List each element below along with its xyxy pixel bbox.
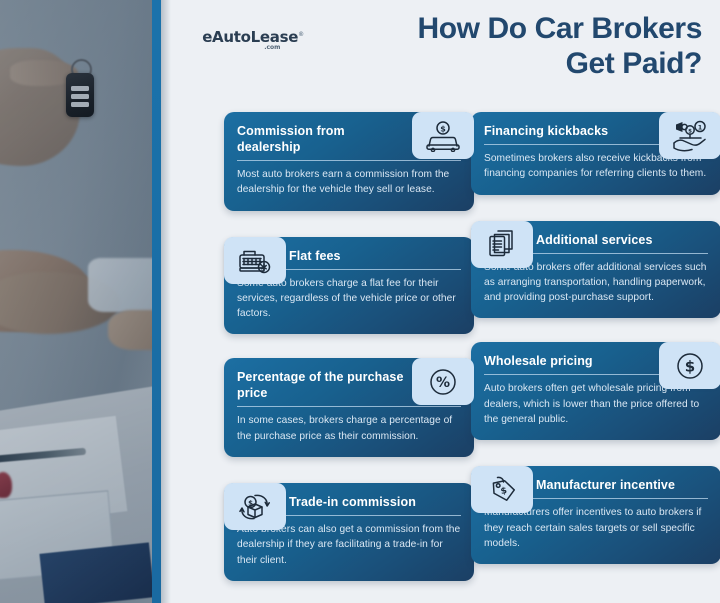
hero-photo bbox=[0, 0, 152, 603]
card-grid: $ Commission from dealership Most auto b… bbox=[171, 88, 720, 603]
card-description: In some cases, brokers charge a percenta… bbox=[237, 413, 461, 444]
hand-with-money-icon: 1 $ bbox=[659, 112, 720, 159]
brand-logo[interactable]: eAutoLease® .com bbox=[195, 22, 311, 52]
blue-accent-bar bbox=[152, 0, 161, 603]
card-column-left: $ Commission from dealership Most auto b… bbox=[224, 88, 474, 592]
car-with-dollar-icon: $ bbox=[412, 112, 474, 159]
accent-bar-shadow bbox=[161, 0, 171, 603]
svg-text:$: $ bbox=[685, 357, 695, 375]
card-additional-services[interactable]: Additional services Some auto brokers of… bbox=[471, 221, 720, 319]
card-description: Most auto brokers earn a commission from… bbox=[237, 167, 461, 198]
infographic-root: eAutoLease® .com How Do Car Brokers Get … bbox=[0, 0, 720, 603]
card-commission-from-dealership[interactable]: $ Commission from dealership Most auto b… bbox=[224, 112, 474, 211]
page-title-line-1: How Do Car Brokers bbox=[417, 12, 702, 45]
svg-text:%: % bbox=[436, 375, 450, 391]
card-trade-in-commission[interactable]: $ Trade-in commission Auto brokers can a… bbox=[224, 483, 474, 581]
card-column-right: 1 $ Financing kickbacks Sometimes bro bbox=[471, 88, 720, 575]
page-title: How Do Car Brokers Get Paid? bbox=[302, 12, 702, 82]
page-title-line-2: Get Paid? bbox=[302, 47, 702, 82]
percent-circle-icon: % bbox=[412, 358, 474, 405]
card-divider bbox=[237, 160, 461, 161]
svg-text:$: $ bbox=[440, 124, 446, 133]
card-percentage-of-the-purchase-price[interactable]: % Percentage of the purchase price In so… bbox=[224, 358, 474, 457]
svg-text:1: 1 bbox=[698, 123, 703, 131]
photo-overlay-tint bbox=[0, 0, 152, 603]
card-financing-kickbacks[interactable]: 1 $ Financing kickbacks Sometimes bro bbox=[471, 112, 720, 195]
brand-logo-main: eAutoLease bbox=[202, 28, 298, 46]
brand-logo-suffix: .com bbox=[264, 44, 280, 51]
card-wholesale-pricing[interactable]: $ Wholesale pricing Auto brokers often g… bbox=[471, 342, 720, 440]
card-manufacturer-incentive[interactable]: $ Manufacturer incentive Manufacturers o… bbox=[471, 466, 720, 564]
card-divider bbox=[237, 406, 461, 407]
price-tag-dollar-icon: $ bbox=[471, 466, 533, 513]
trade-in-exchange-icon: $ bbox=[224, 483, 286, 530]
cash-register-icon bbox=[224, 237, 286, 284]
svg-text:$: $ bbox=[500, 486, 508, 497]
documents-icon bbox=[471, 221, 533, 268]
brand-logo-text: eAutoLease® .com bbox=[202, 28, 304, 46]
dollar-circle-icon: $ bbox=[659, 342, 720, 389]
card-flat-fees[interactable]: Flat fees Some auto brokers charge a fla… bbox=[224, 237, 474, 335]
header: eAutoLease® .com How Do Car Brokers Get … bbox=[171, 0, 720, 92]
